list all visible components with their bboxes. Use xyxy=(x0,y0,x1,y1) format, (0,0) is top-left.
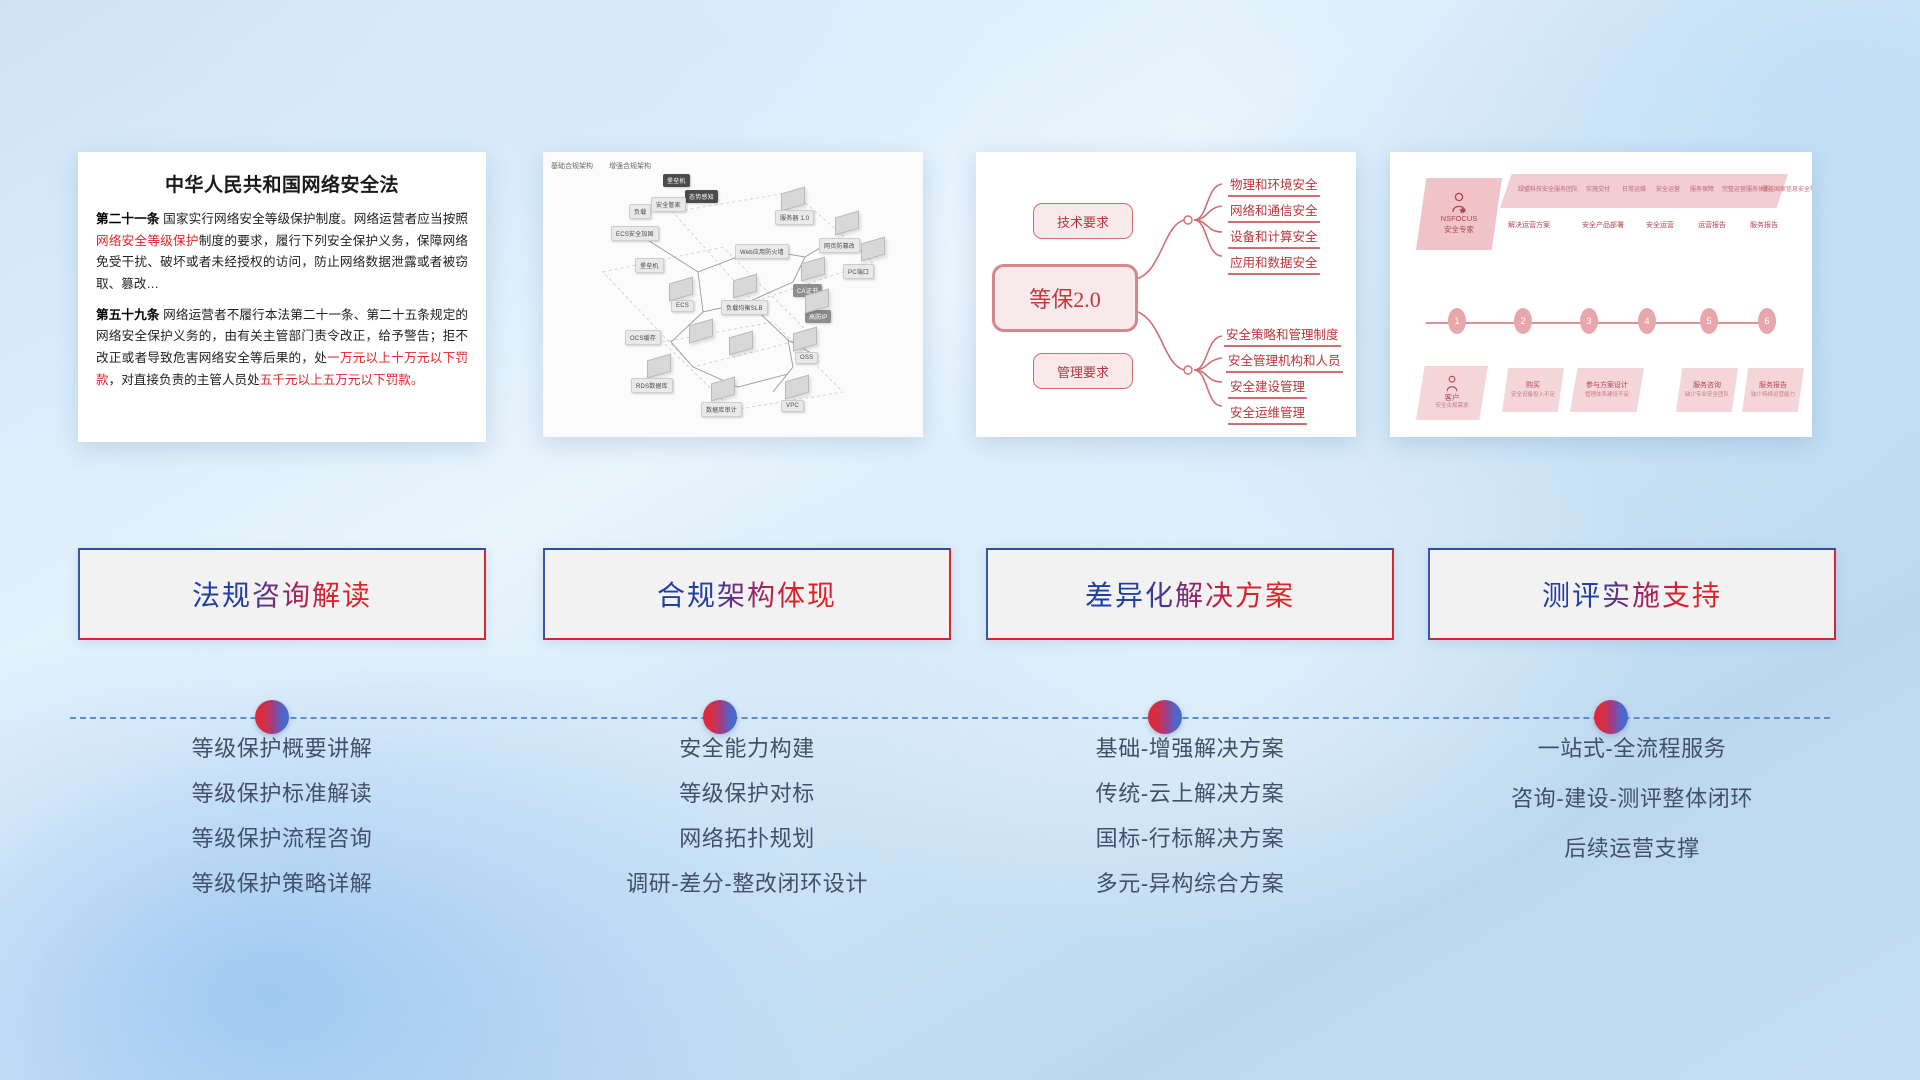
process-step: 1 xyxy=(1448,308,1466,334)
heading-box-compliance-architecture[interactable]: 合规架构体现 xyxy=(543,548,951,640)
expert-badge: NSFOCUS 安全专家 xyxy=(1416,178,1502,250)
law-title: 中华人民共和国网络安全法 xyxy=(96,170,468,197)
banner-item: 绿盟科技安全服务团队 xyxy=(1518,184,1578,193)
banner-item: 服务保障 xyxy=(1690,184,1714,193)
mindmap-leaf: 应用和数据安全 xyxy=(1228,252,1320,275)
customer-label: 客户 xyxy=(1445,393,1460,404)
architecture-diagram: 基础合规架构 增强合规架构 xyxy=(543,152,923,437)
expert-person-icon xyxy=(1449,192,1469,214)
arch-node-bastion: 堡垒机 xyxy=(663,174,690,187)
chip-sub: 安全设备投入不足 xyxy=(1511,391,1555,399)
bullet-item: 国标-行标解决方案 xyxy=(986,828,1394,850)
bullet-item: 传统-云上解决方案 xyxy=(986,783,1394,805)
article-seg: 国家实行网络安全等级保护制度。网络运营者应当按照 xyxy=(160,212,468,226)
bullet-item: 等级保护标准解读 xyxy=(78,783,486,805)
heading-row: 法规咨询解读 合规架构体现 差异化解决方案 测评实施支持 xyxy=(0,548,1920,648)
customer-sub: 安全合规需求 xyxy=(1435,403,1468,411)
mindmap-leaf: 网络和通信安全 xyxy=(1228,200,1320,223)
heading-box-differentiated-solution[interactable]: 差异化解决方案 xyxy=(986,548,1394,640)
arch-node-ocs: OCS缓存 xyxy=(625,330,661,345)
bullet-column-2: 安全能力构建 等级保护对标 网络拓扑规划 调研-差分-整改闭环设计 xyxy=(543,738,951,918)
mindmap-leaf: 安全运维管理 xyxy=(1228,402,1307,425)
heading-label: 差异化解决方案 xyxy=(1085,574,1295,614)
bullet-item: 安全能力构建 xyxy=(543,738,951,760)
process-step: 6 xyxy=(1758,308,1776,334)
arch-node-pcport: PC端口 xyxy=(843,264,874,279)
mindmap-leaf: 设备和计算安全 xyxy=(1228,226,1320,249)
bullet-item: 一站式-全流程服务 xyxy=(1428,738,1836,760)
arch-node-proxy: 堡垒机 xyxy=(635,258,664,273)
bullet-item: 等级保护策略详解 xyxy=(78,873,486,895)
banner-item: 实施交付 xyxy=(1586,184,1610,193)
timeline-dot[interactable] xyxy=(1148,700,1182,734)
law-article-59: 第五十九条 网络运营者不履行本法第二十一条、第二十五条规定的网络安全保护义务的，… xyxy=(96,305,468,392)
mindmap-leaf: 安全策略和管理制度 xyxy=(1224,324,1341,347)
slide-canvas: 中华人民共和国网络安全法 第二十一条 国家实行网络安全等级保护制度。网络运营者应… xyxy=(0,0,1920,1080)
chip-title: 服务报告 xyxy=(1759,381,1787,392)
mindmap-branch-technical: 技术要求 xyxy=(1033,203,1133,239)
chip-sub: 缺少专业安全团队 xyxy=(1685,391,1729,399)
process-step: 3 xyxy=(1580,308,1598,334)
process-step: 5 xyxy=(1700,308,1718,334)
arch-node-slb: 负载均衡SLB xyxy=(721,300,768,315)
bullet-item: 基础-增强解决方案 xyxy=(986,738,1394,760)
bullet-item: 等级保护对标 xyxy=(543,783,951,805)
phase-label: 运营报告 xyxy=(1698,220,1726,230)
process-chip: 参与方案设计 管理体系建设不足 xyxy=(1570,368,1644,412)
law-article-21: 第二十一条 国家实行网络安全等级保护制度。网络运营者应当按照网络安全等级保护制度… xyxy=(96,209,468,296)
expert-role: 安全专家 xyxy=(1444,225,1474,236)
bullet-columns: 等级保护概要讲解 等级保护标准解读 等级保护流程咨询 等级保护策略详解 安全能力… xyxy=(0,738,1920,968)
bullet-item: 等级保护流程咨询 xyxy=(78,828,486,850)
arch-node-ecs: ECS xyxy=(671,300,694,312)
bullet-column-1: 等级保护概要讲解 等级保护标准解读 等级保护流程咨询 等级保护策略详解 xyxy=(78,738,486,918)
article-seg: ，对直接负责的主管人员处 xyxy=(109,373,260,387)
chip-sub: 管理体系建设不足 xyxy=(1585,391,1629,399)
heading-label: 测评实施支持 xyxy=(1542,574,1722,614)
bullet-item: 咨询-建设-测评整体闭环 xyxy=(1428,788,1836,810)
process-chip: 服务报告 缺少持续运营能力 xyxy=(1742,368,1804,412)
process-axis xyxy=(1426,322,1776,324)
article-seg-highlight: 网络安全等级保护 xyxy=(96,234,199,248)
card-compliance-architecture[interactable]: 基础合规架构 增强合规架构 xyxy=(543,152,923,437)
mindmap-leaf: 安全建设管理 xyxy=(1228,376,1307,399)
mindmap-branch-management: 管理要求 xyxy=(1033,353,1133,389)
card-cybersecurity-law[interactable]: 中华人民共和国网络安全法 第二十一条 国家实行网络安全等级保护制度。网络运营者应… xyxy=(78,152,486,442)
mindmap-leaf: 物理和环境安全 xyxy=(1228,174,1320,197)
article-number: 第二十一条 xyxy=(96,212,160,226)
image-card-row: 中华人民共和国网络安全法 第二十一条 国家实行网络安全等级保护制度。网络运营者应… xyxy=(0,0,1920,460)
expert-brand: NSFOCUS xyxy=(1441,214,1478,225)
bullet-item: 等级保护概要讲解 xyxy=(78,738,486,760)
banner-item: 安全运营 xyxy=(1656,184,1680,193)
banner-item: 日常运维 xyxy=(1622,184,1646,193)
bullet-item: 后续运营支撑 xyxy=(1428,838,1836,860)
article-seg-highlight: 五千元以上五万元以下罚款。 xyxy=(260,373,424,387)
bullet-column-3: 基础-增强解决方案 传统-云上解决方案 国标-行标解决方案 多元-异构综合方案 xyxy=(986,738,1394,918)
timeline-dot[interactable] xyxy=(703,700,737,734)
customer-badge: 客户 安全合规需求 xyxy=(1416,366,1488,420)
phase-label: 解决运营方案 xyxy=(1508,220,1550,230)
mindmap-leaf: 安全管理机构和人员 xyxy=(1226,350,1343,373)
arch-node-lb: 负载 xyxy=(629,204,651,219)
heading-label: 法规咨询解读 xyxy=(192,574,372,614)
arch-node-tamper: 网页防篡改 xyxy=(819,238,860,253)
timeline xyxy=(0,700,1920,736)
arch-node-oss: OSS xyxy=(795,352,818,364)
chip-title: 购买 xyxy=(1526,381,1540,392)
card-service-process[interactable]: NSFOCUS 安全专家 绿盟科技安全服务团队 实施交付 日常运维 安全运营 服… xyxy=(1390,152,1812,437)
bullet-item: 网络拓扑规划 xyxy=(543,828,951,850)
timeline-dot[interactable] xyxy=(1594,700,1628,734)
timeline-dot[interactable] xyxy=(255,700,289,734)
phase-label: 安全运营 xyxy=(1646,220,1674,230)
heading-label: 合规架构体现 xyxy=(657,574,837,614)
process-chip: 购买 安全设备投入不足 xyxy=(1502,368,1564,412)
arch-node-dbaudit: 数据库审计 xyxy=(701,402,742,417)
article-number: 第五十九条 xyxy=(96,308,160,322)
chip-sub: 缺少持续运营能力 xyxy=(1751,391,1795,399)
law-body: 中华人民共和国网络安全法 第二十一条 国家实行网络安全等级保护制度。网络运营者应… xyxy=(78,152,486,442)
bullet-item: 多元-异构综合方案 xyxy=(986,873,1394,895)
arch-node-rds: RDS数据库 xyxy=(631,378,673,393)
heading-box-regulation-consulting[interactable]: 法规咨询解读 xyxy=(78,548,486,640)
process-chip: 服务咨询 缺少专业安全团队 xyxy=(1676,368,1738,412)
chip-title: 参与方案设计 xyxy=(1586,381,1628,392)
arch-node-guard: 安全管家 xyxy=(651,197,686,212)
arch-node-vpc: VPC xyxy=(781,400,804,412)
arch-node-waf: Web应用防火墙 xyxy=(735,244,789,259)
process-step: 2 xyxy=(1514,308,1532,334)
process-step: 4 xyxy=(1638,308,1656,334)
phase-label: 安全产品部署 xyxy=(1582,220,1624,230)
bullet-item: 调研-差分-整改闭环设计 xyxy=(543,873,951,895)
timeline-dashed-line xyxy=(70,717,1830,719)
chip-title: 服务咨询 xyxy=(1693,381,1721,392)
bullet-column-4: 一站式-全流程服务 咨询-建设-测评整体闭环 后续运营支撑 xyxy=(1428,738,1836,888)
heading-box-assessment-support[interactable]: 测评实施支持 xyxy=(1428,548,1836,640)
card-mindmap-dengbao[interactable]: 等保2.0 技术要求 管理要求 物理和环境安全 网络和通信安全 设备和计算安全 … xyxy=(976,152,1356,437)
process-diagram: NSFOCUS 安全专家 绿盟科技安全服务团队 实施交付 日常运维 安全运营 服… xyxy=(1390,152,1812,437)
customer-person-icon xyxy=(1444,375,1460,393)
mindmap-root: 等保2.0 xyxy=(992,264,1138,332)
arch-node-hardening: ECS安全加固 xyxy=(611,226,659,241)
phase-label: 服务报告 xyxy=(1750,220,1778,230)
mindmap: 等保2.0 技术要求 管理要求 物理和环境安全 网络和通信安全 设备和计算安全 … xyxy=(976,152,1356,437)
arch-node-situation: 态势感知 xyxy=(685,190,718,203)
banner-item: 覆盖国家信息安全等级保护要求 xyxy=(1762,184,1812,193)
arch-node-server: 服务器 1.0 xyxy=(775,210,814,225)
